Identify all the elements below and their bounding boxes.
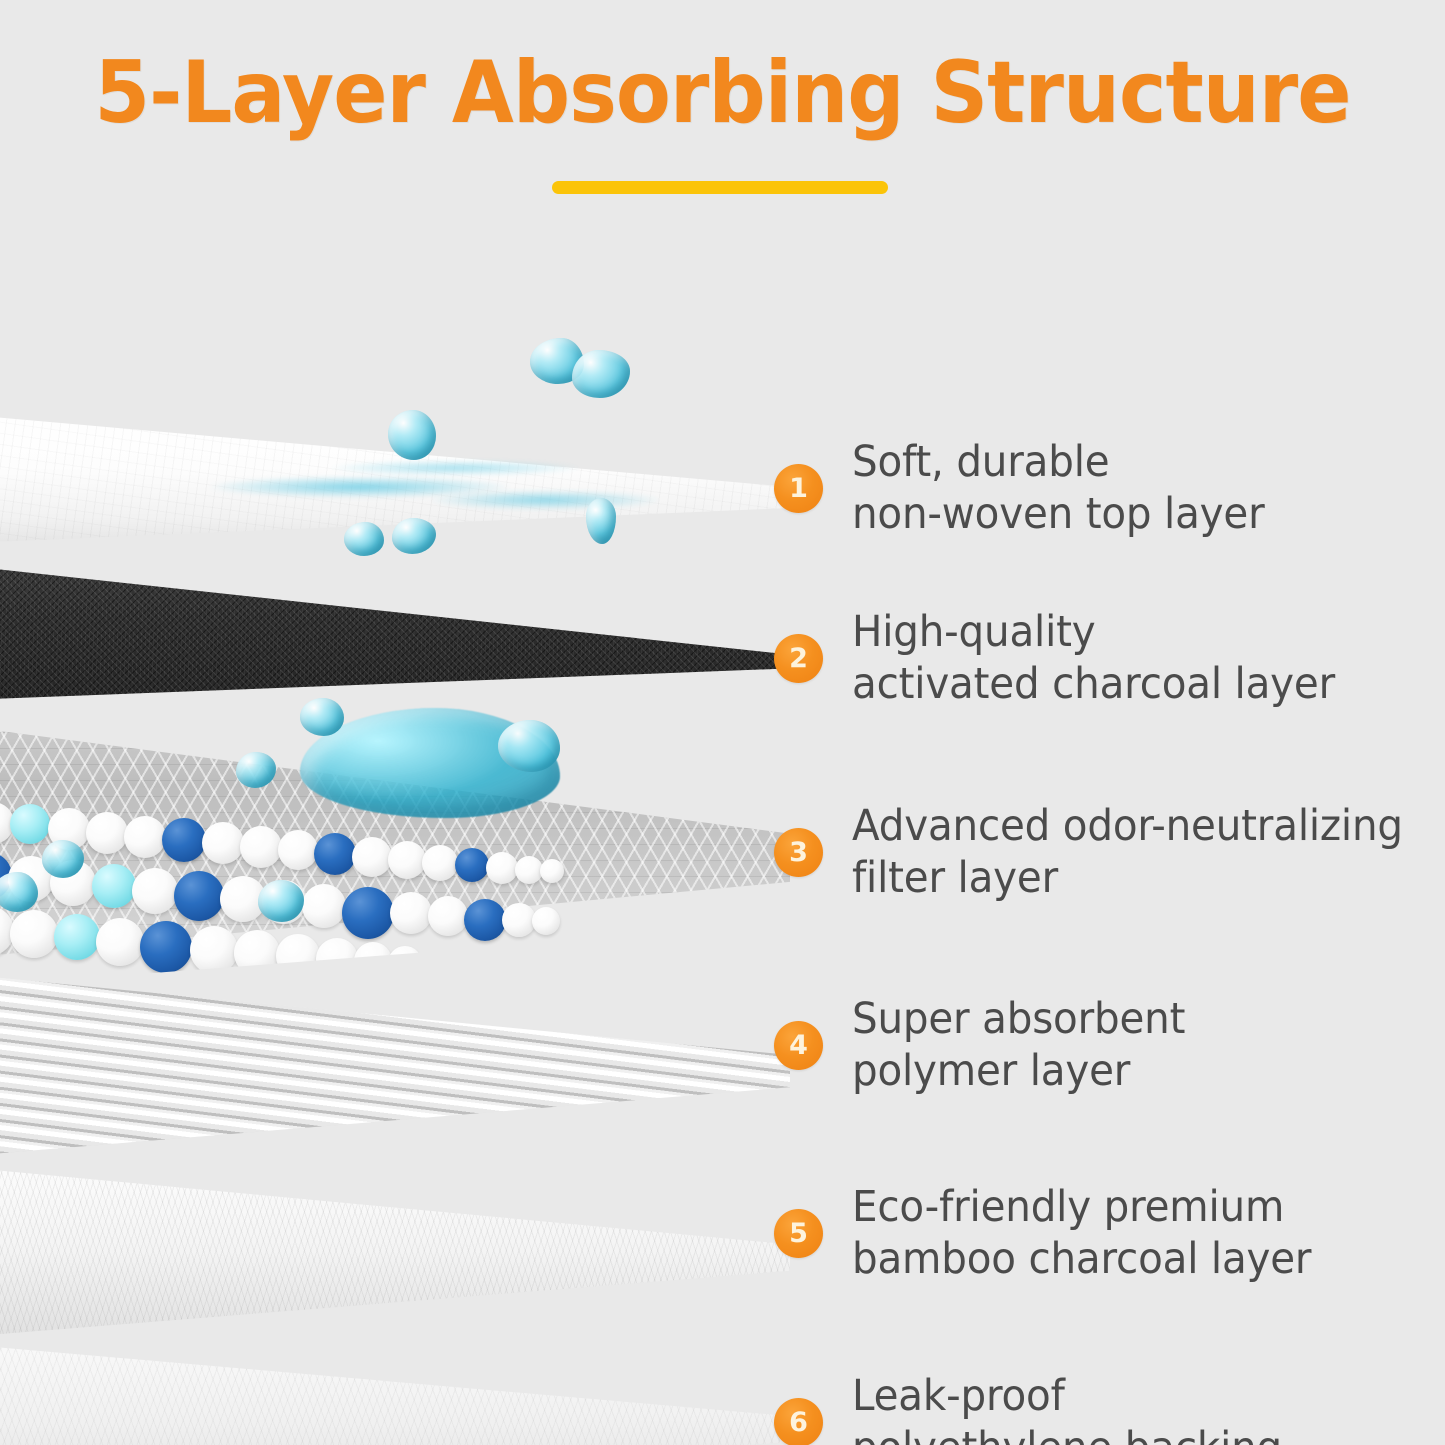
callout-3-label: Advanced odor-neutralizing filter layer — [852, 800, 1403, 904]
callout-4[interactable]: 4 Super absorbent polymer layer — [774, 993, 1207, 1097]
badge-1-icon: 1 — [774, 464, 823, 513]
callout-3[interactable]: 3 Advanced odor-neutralizing filter laye… — [774, 800, 1438, 904]
product-infographic: 5-Layer Absorbing Structure — [0, 0, 1445, 1445]
badge-6-icon: 6 — [774, 1398, 823, 1445]
badge-4-icon: 4 — [774, 1021, 823, 1070]
callout-4-label: Super absorbent polymer layer — [852, 993, 1185, 1097]
badge-3-icon: 3 — [774, 828, 823, 877]
callout-2-label: High-quality activated charcoal layer — [852, 606, 1335, 710]
callout-1-label: Soft, durable non-woven top layer — [852, 436, 1265, 540]
callout-5[interactable]: 5 Eco-friendly premium bamboo charcoal l… — [774, 1181, 1341, 1285]
badge-2-icon: 2 — [774, 634, 823, 683]
callout-6[interactable]: 6 Leak-proof polyethylene backing — [774, 1370, 1309, 1445]
callout-6-label: Leak-proof polyethylene backing — [852, 1370, 1282, 1445]
callout-2[interactable]: 2 High-quality activated charcoal layer — [774, 606, 1366, 710]
callout-5-label: Eco-friendly premium bamboo charcoal lay… — [852, 1181, 1311, 1285]
callout-1[interactable]: 1 Soft, durable non-woven top layer — [774, 436, 1291, 540]
callout-list: 1 Soft, durable non-woven top layer 2 Hi… — [0, 0, 1445, 1445]
badge-5-icon: 5 — [774, 1209, 823, 1258]
